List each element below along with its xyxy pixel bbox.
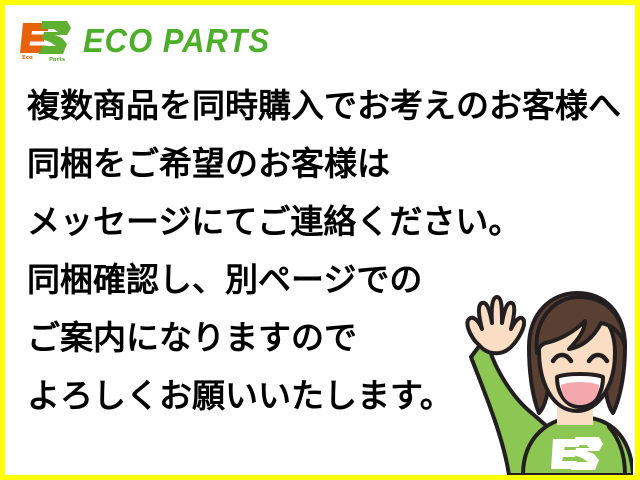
brand-name: ECO PARTS xyxy=(83,23,270,56)
svg-text:Eco: Eco xyxy=(22,55,33,61)
svg-text:Parts: Parts xyxy=(49,57,66,62)
notice-banner: Eco Parts ECO PARTS 複数商品を同時購入でお考えのお客様へ 同… xyxy=(0,0,640,480)
message-line-2: 同梱をご希望のお客様は xyxy=(27,135,627,193)
message-line-3: メッセージにてご連絡ください。 xyxy=(27,193,627,251)
message-line-1: 複数商品を同時購入でお考えのお客様へ xyxy=(27,77,627,135)
brand-header: Eco Parts ECO PARTS xyxy=(19,15,270,65)
eco-parts-logo-icon: Eco Parts xyxy=(19,18,73,62)
waving-staff-character-illustration xyxy=(453,285,633,475)
